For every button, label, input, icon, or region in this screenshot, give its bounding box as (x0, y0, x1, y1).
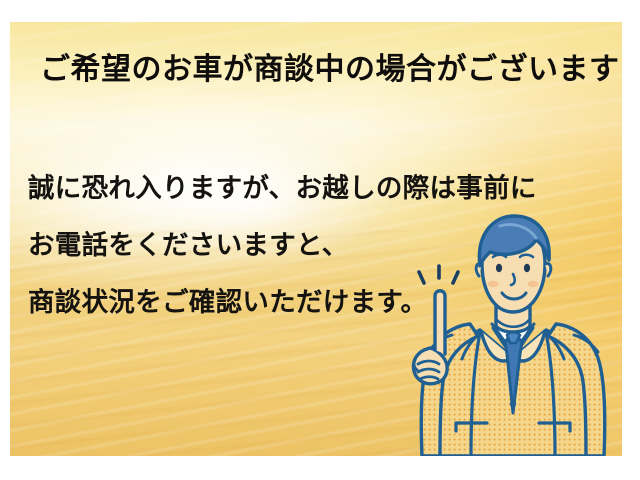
poster-panel: ご希望のお車が商談中の場合がございます 誠に恐れ入りますが、お越しの際は事前に … (10, 22, 622, 456)
page-title: ご希望のお車が商談中の場合がございます (40, 52, 610, 88)
poster-text: ご希望のお車が商談中の場合がございます 誠に恐れ入りますが、お越しの際は事前に … (10, 22, 622, 456)
body-line-3: 商談状況をご確認いただけます。 (28, 288, 608, 318)
poster-canvas: ご希望のお車が商談中の場合がございます 誠に恐れ入りますが、お越しの際は事前に … (0, 0, 640, 480)
body-line-2: お電話をくださいますと、 (28, 231, 608, 261)
body-line-1: 誠に恐れ入りますが、お越しの際は事前に (28, 174, 608, 204)
